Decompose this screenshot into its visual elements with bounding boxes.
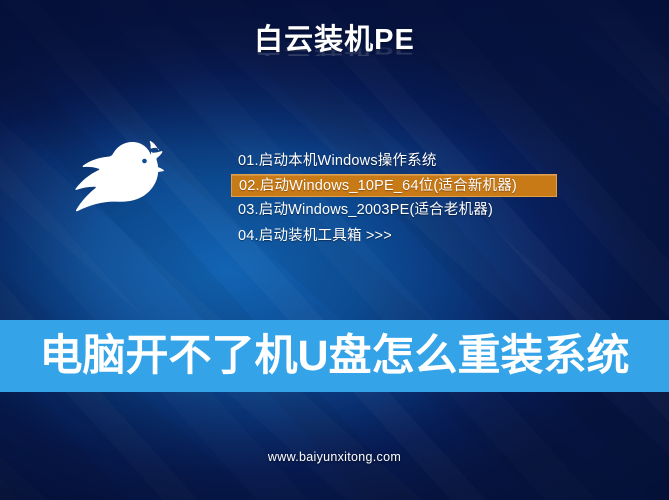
brand-logo-reflection: 白云装机PE (0, 40, 669, 56)
brand-logo: 白云装机PE 白云装机PE (0, 26, 669, 85)
boot-menu-screen: 白云装机PE 白云装机PE 01.启动本机Windows操作系统 02.启动Wi… (0, 0, 669, 500)
boot-menu-item-02[interactable]: 02.启动Windows_10PE_64位(适合新机器) (231, 174, 557, 197)
footer: www.baiyunxitong.com (0, 448, 669, 466)
boot-menu-item-03[interactable]: 03.启动Windows_2003PE(适合老机器) (231, 197, 561, 223)
boot-menu-item-01[interactable]: 01.启动本机Windows操作系统 (231, 148, 561, 174)
footer-website-url: www.baiyunxitong.com (268, 450, 401, 464)
boot-menu-item-04-label: 04.启动装机工具箱 >>> (238, 228, 392, 244)
boot-menu-item-03-label: 03.启动Windows_2003PE(适合老机器) (238, 202, 493, 218)
boot-menu-item-04[interactable]: 04.启动装机工具箱 >>> (231, 223, 561, 249)
headline-banner-text: 电脑开不了机U盘怎么重装系统 (39, 335, 629, 378)
boot-menu-item-02-label: 02.启动Windows_10PE_64位(适合新机器) (239, 178, 517, 194)
headline-banner: 电脑开不了机U盘怎么重装系统 (0, 320, 669, 392)
bird-logo-icon (62, 133, 174, 215)
boot-menu-list[interactable]: 01.启动本机Windows操作系统 02.启动Windows_10PE_64位… (231, 148, 561, 249)
boot-menu-item-01-label: 01.启动本机Windows操作系统 (238, 153, 437, 169)
